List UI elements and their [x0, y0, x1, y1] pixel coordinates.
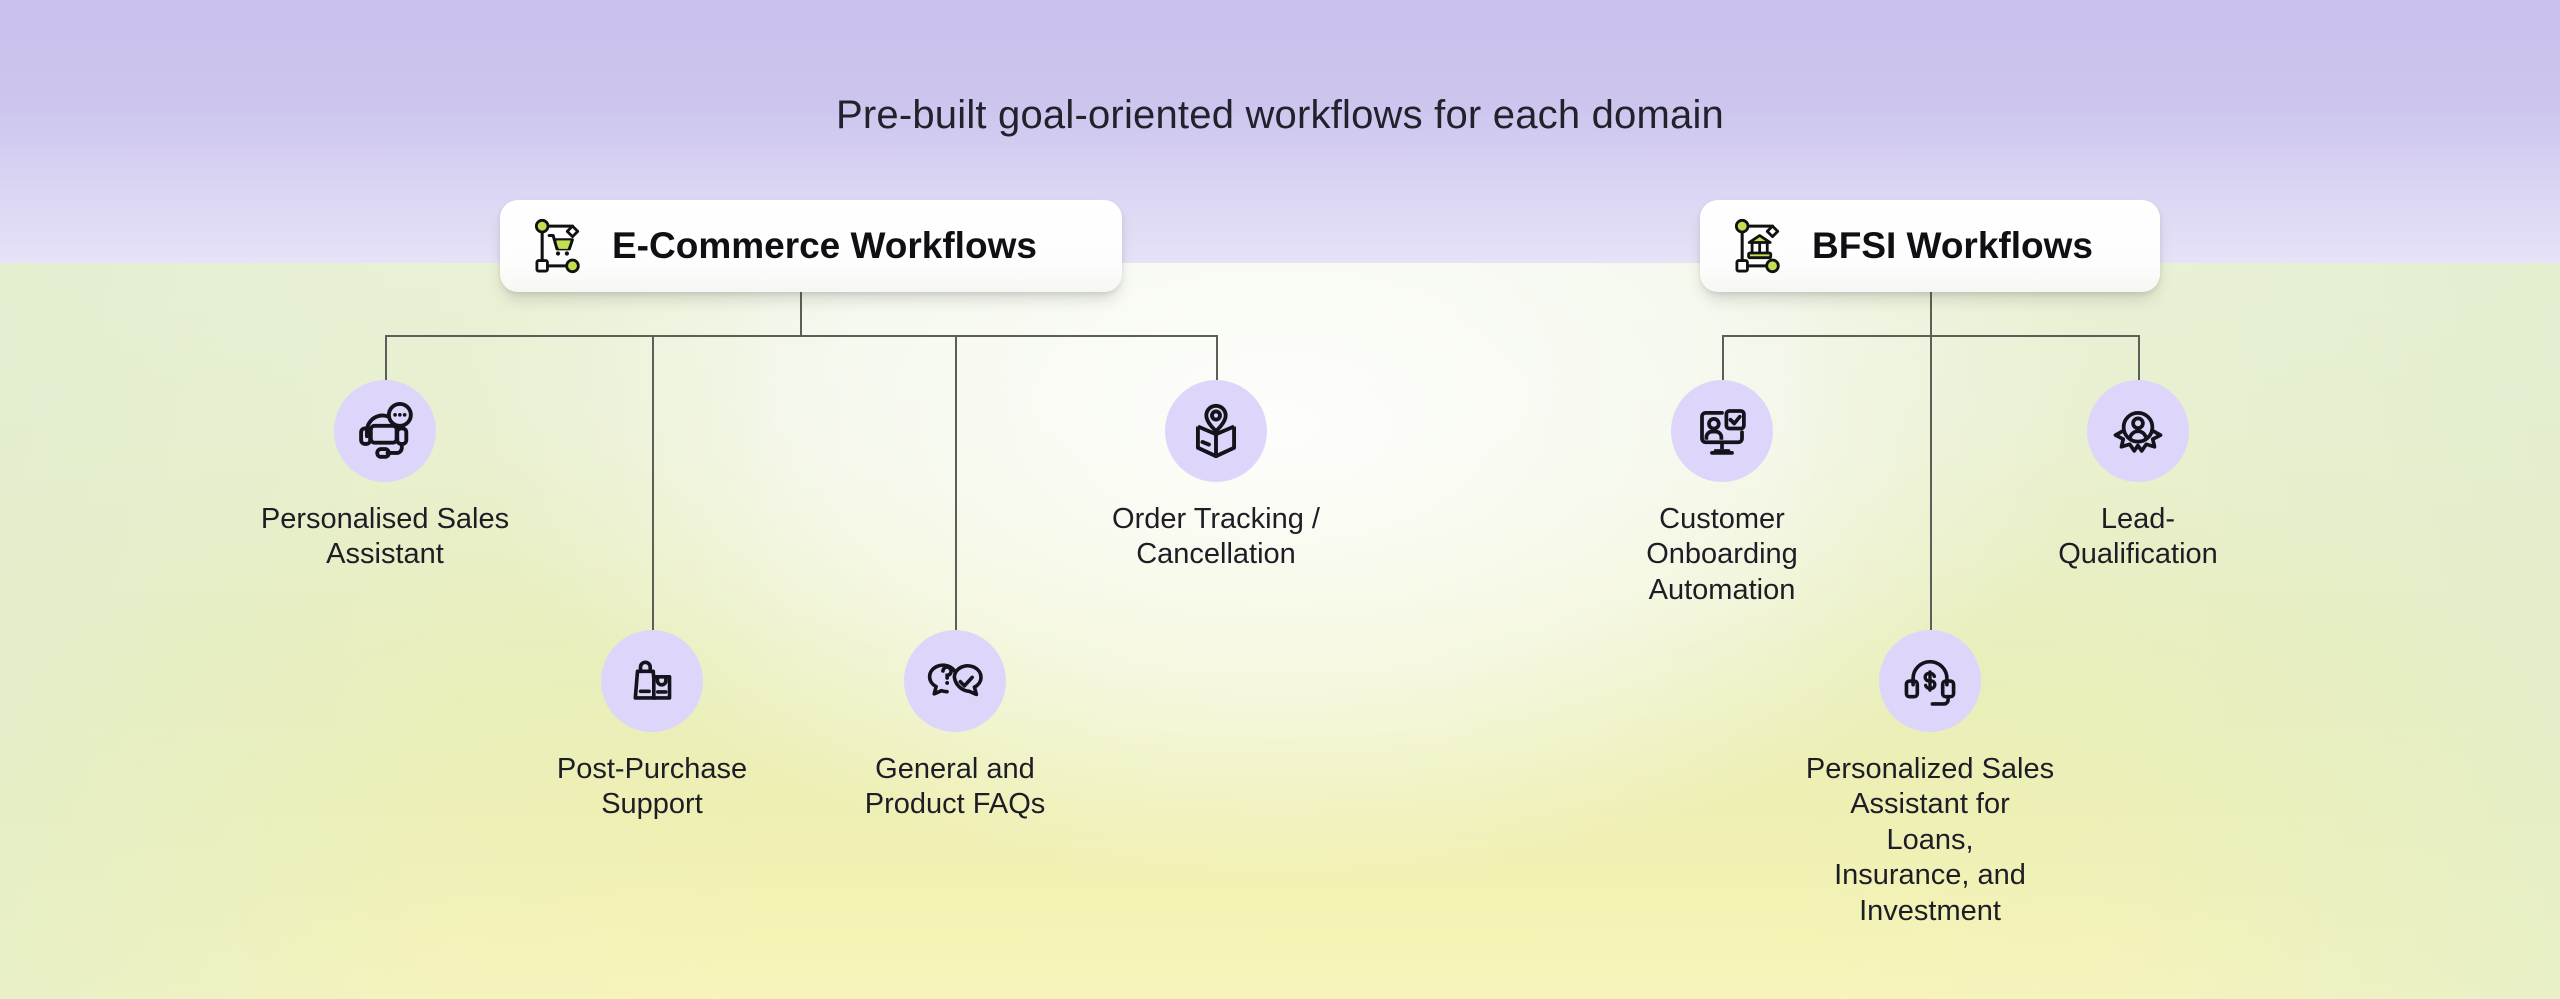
connector-ecom-drop-2	[652, 335, 654, 630]
node-personalised-sales-assistant[interactable]: Personalised Sales Assistant	[235, 380, 535, 573]
node-lead-qualification[interactable]: Lead- Qualification	[2013, 380, 2263, 573]
connector-bfsi-drop-1	[1722, 335, 1724, 380]
question-check-bubbles-icon	[904, 630, 1006, 732]
package-location-icon	[1165, 380, 1267, 482]
monitor-user-check-icon	[1671, 380, 1773, 482]
node-label: Lead- Qualification	[2058, 502, 2218, 573]
workflow-diagram: Pre-built goal-oriented workflows for ea…	[0, 0, 2560, 999]
connector-bfsi-drop-2	[1930, 335, 1932, 630]
header-card-bfsi[interactable]: BFSI Workflows	[1700, 200, 2160, 292]
page-title: Pre-built goal-oriented workflows for ea…	[0, 93, 2560, 138]
node-post-purchase-support[interactable]: Post-Purchase Support	[527, 630, 777, 823]
connector-ecom-drop-1	[385, 335, 387, 380]
node-label: Personalised Sales Assistant	[261, 502, 509, 573]
connector-ecom-stem	[800, 292, 802, 336]
node-general-product-faqs[interactable]: General and Product FAQs	[830, 630, 1080, 823]
connector-bfsi-drop-3	[2138, 335, 2140, 380]
node-label: Personalized Sales Assistant for Loans, …	[1805, 752, 2055, 929]
node-customer-onboarding-automation[interactable]: Customer Onboarding Automation	[1597, 380, 1847, 608]
connector-ecom-drop-4	[1216, 335, 1218, 380]
headset-chat-icon	[334, 380, 436, 482]
header-card-label: E-Commerce Workflows	[612, 225, 1037, 267]
header-card-ecommerce[interactable]: E-Commerce Workflows	[500, 200, 1122, 292]
node-label: Post-Purchase Support	[557, 752, 747, 823]
connector-bfsi-stem	[1930, 292, 1932, 336]
node-label: General and Product FAQs	[865, 752, 1046, 823]
node-label: Customer Onboarding Automation	[1646, 502, 1798, 608]
connector-ecom-bus	[385, 335, 1217, 337]
headset-dollar-icon	[1879, 630, 1981, 732]
workflow-bank-icon	[1734, 218, 1790, 274]
header-card-label: BFSI Workflows	[1812, 225, 2093, 267]
node-order-tracking-cancellation[interactable]: Order Tracking / Cancellation	[1091, 380, 1341, 573]
shopping-bags-icon	[601, 630, 703, 732]
node-label: Order Tracking / Cancellation	[1112, 502, 1320, 573]
workflow-cart-icon	[534, 218, 590, 274]
connector-ecom-drop-3	[955, 335, 957, 630]
node-personalized-sales-assistant-loans[interactable]: Personalized Sales Assistant for Loans, …	[1805, 630, 2055, 929]
user-gear-icon	[2087, 380, 2189, 482]
